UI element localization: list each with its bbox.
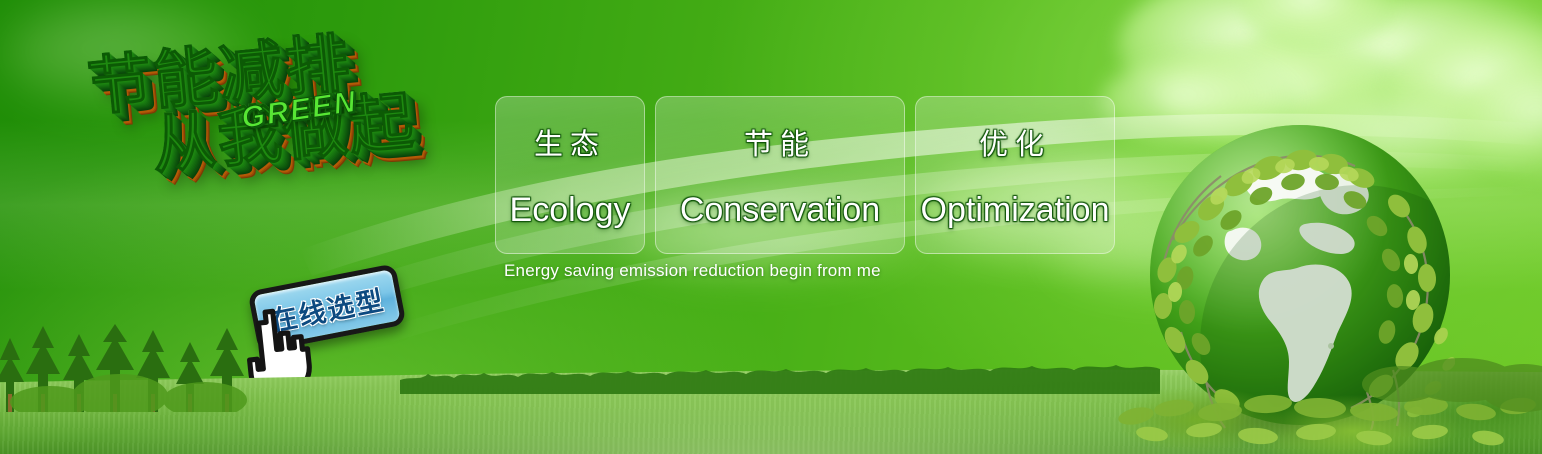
feature-card-conservation-cn: 节能 [744, 121, 816, 163]
foliage-leaves-icon [1112, 354, 1542, 454]
cloud-icon [1118, 0, 1418, 120]
feature-card-ecology[interactable]: 生态 Ecology [495, 96, 645, 254]
feature-cards: 生态 Ecology 节能 Conservation 优化 Optimizati… [495, 96, 1115, 254]
feature-card-ecology-en: Ecology [510, 191, 631, 230]
headline-3d: 节能减排 从我做起 GREEN [85, 17, 507, 304]
feature-card-optimization-cn: 优化 [979, 121, 1051, 163]
feature-card-ecology-cn: 生态 [534, 121, 606, 163]
cloud-icon [1250, 0, 1542, 120]
cloud-icon [1460, 60, 1542, 180]
conifer-treeline-icon [0, 324, 350, 412]
feature-card-optimization-en: Optimization [921, 191, 1110, 230]
feature-card-conservation-en: Conservation [680, 191, 880, 230]
cloud-icon [1240, 0, 1400, 50]
feature-card-optimization[interactable]: 优化 Optimization [915, 96, 1115, 254]
distant-treeline-icon [400, 354, 1160, 394]
banner-tagline: Energy saving emission reduction begin f… [504, 261, 881, 281]
green-promo-banner: 节能减排 从我做起 GREEN 在线选型 生态 Ecology 节能 Conse… [0, 0, 1542, 454]
feature-card-conservation[interactable]: 节能 Conservation [655, 96, 905, 254]
